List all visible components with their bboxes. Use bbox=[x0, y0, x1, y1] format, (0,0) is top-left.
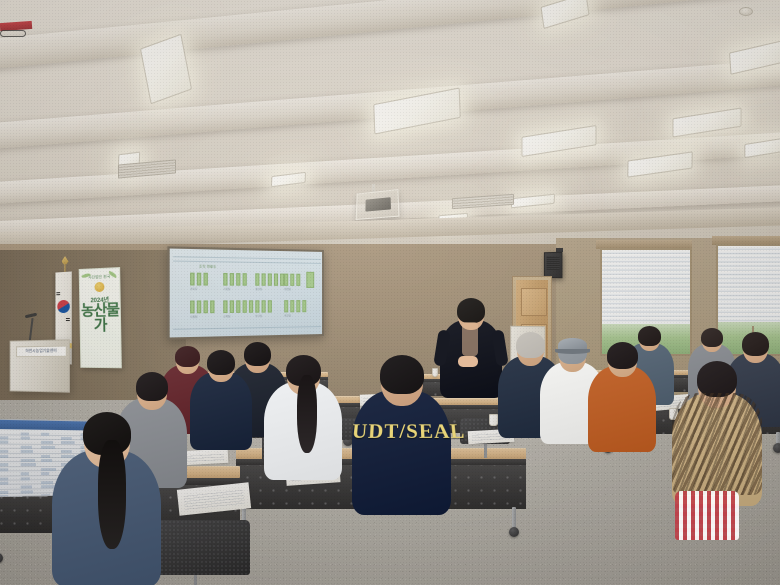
slide-box bbox=[243, 273, 247, 286]
slide-box bbox=[203, 273, 207, 286]
spreadsheet-cell bbox=[0, 450, 8, 453]
slide-box bbox=[290, 274, 294, 286]
slide-box bbox=[255, 300, 259, 312]
banner-top-text: 사단법인 한국 bbox=[80, 274, 120, 281]
slide-box bbox=[249, 300, 253, 313]
person-garment-pattern bbox=[672, 393, 762, 495]
presenter-inner-top bbox=[462, 322, 478, 356]
table-leg bbox=[512, 507, 516, 529]
person-hair bbox=[697, 361, 737, 397]
spreadsheet-cell bbox=[21, 477, 30, 480]
spreadsheet-cell bbox=[41, 454, 50, 457]
table-caster bbox=[773, 443, 780, 453]
slide-box bbox=[268, 300, 272, 312]
lectern-sign-text: 하천시농업기술센터 bbox=[25, 349, 56, 354]
paper-cup-mid bbox=[489, 414, 498, 426]
spreadsheet-cell bbox=[0, 468, 8, 471]
person-hair bbox=[742, 332, 769, 356]
slide-box bbox=[236, 300, 240, 313]
spreadsheet-cell bbox=[21, 486, 32, 489]
slide-box bbox=[197, 300, 201, 313]
person-ponytail bbox=[297, 375, 317, 453]
person-body bbox=[190, 372, 252, 450]
spreadsheet-cell bbox=[41, 432, 49, 435]
door-panel-upper bbox=[521, 288, 547, 316]
slide-group-label: 영업팀 bbox=[284, 287, 291, 291]
banner-main-text: 농산물가 bbox=[80, 302, 120, 333]
slide-box-group bbox=[284, 274, 300, 286]
smoke-detector-icon bbox=[739, 7, 753, 16]
speaker-grill bbox=[547, 256, 560, 270]
slide-group-label: 관리부 bbox=[190, 287, 197, 291]
person-body bbox=[588, 366, 656, 452]
spreadsheet-cell bbox=[21, 490, 33, 493]
person-ponytail bbox=[98, 440, 126, 549]
slide-box bbox=[223, 273, 227, 286]
person-hair bbox=[701, 328, 723, 347]
person-hair bbox=[607, 342, 638, 369]
spreadsheet-cell bbox=[0, 454, 8, 457]
spreadsheet-cell bbox=[0, 436, 8, 439]
person-hair bbox=[136, 372, 168, 401]
slide-box bbox=[230, 273, 234, 286]
window-blind-right[interactable] bbox=[718, 246, 780, 326]
slide-group-label: 교육팀 bbox=[223, 314, 230, 318]
slide-box-group bbox=[223, 300, 253, 313]
slide-box bbox=[274, 273, 278, 285]
projection-screen-surface: 조직 현황도 관리부기획팀생산팀영업팀지원팀교육팀연구팀총무팀 bbox=[170, 249, 322, 338]
ceiling-projector-icon bbox=[356, 189, 400, 220]
spreadsheet-cell bbox=[21, 436, 30, 439]
person-body bbox=[352, 390, 451, 515]
slide-box-group bbox=[190, 300, 214, 313]
slide-group-label: 생산팀 bbox=[255, 287, 262, 291]
spreadsheet-cell bbox=[21, 445, 32, 448]
slide-legend-box bbox=[306, 272, 314, 288]
spreadsheet-cell bbox=[0, 491, 8, 494]
spreadsheet-cell bbox=[0, 495, 8, 497]
chair-post bbox=[194, 575, 197, 585]
slide-group-label: 기획팀 bbox=[223, 287, 230, 291]
slide-box bbox=[197, 273, 201, 286]
person-attendee-orange-blouse bbox=[588, 340, 656, 459]
person-attendee-white-shirt bbox=[264, 352, 342, 488]
taeguk-symbol-icon bbox=[57, 300, 69, 313]
slide-title: 조직 현황도 bbox=[199, 264, 216, 268]
slide-box bbox=[243, 300, 247, 313]
slide-box bbox=[255, 273, 259, 285]
person-hair bbox=[380, 355, 424, 394]
paper-lines bbox=[183, 488, 245, 511]
projection-screen: 조직 현황도 관리부기획팀생산팀영업팀지원팀교육팀연구팀총무팀 bbox=[167, 246, 324, 339]
slide-box bbox=[190, 300, 194, 313]
slide-box-group bbox=[190, 273, 208, 286]
slide-box bbox=[302, 300, 306, 312]
slide-box bbox=[296, 274, 300, 286]
person-attendee-front-left-ponytail bbox=[52, 408, 161, 585]
wall-speaker-icon bbox=[544, 252, 563, 278]
chair-post bbox=[484, 444, 487, 458]
projector-body bbox=[365, 197, 391, 211]
person-cap-brim bbox=[555, 349, 590, 354]
slide-box bbox=[210, 300, 214, 313]
slide-box bbox=[223, 300, 227, 313]
spreadsheet-cell bbox=[21, 472, 29, 475]
person-hair bbox=[457, 298, 485, 323]
person-gingham-trousers bbox=[675, 491, 739, 540]
slide-box bbox=[268, 273, 272, 285]
slide-group-label: 총무팀 bbox=[284, 313, 291, 317]
banner-emblem-icon bbox=[94, 282, 104, 292]
slide-box bbox=[262, 300, 266, 312]
slide-chart-boxes: 관리부기획팀생산팀영업팀지원팀교육팀연구팀총무팀 bbox=[170, 249, 322, 252]
presenter-hands bbox=[458, 356, 478, 367]
spreadsheet-cell bbox=[21, 459, 35, 462]
lectern: 하천시농업기술센터 bbox=[10, 339, 70, 392]
slide-box bbox=[290, 300, 294, 312]
slide-box bbox=[190, 273, 194, 286]
person-attendee-udt-jacket: UDT/SEAL bbox=[352, 352, 451, 525]
standing-banner: 사단법인 한국 2024년 농산물가 bbox=[79, 267, 122, 368]
slide-box bbox=[203, 300, 207, 313]
person-hair bbox=[207, 350, 235, 375]
slide-group-label: 지원팀 bbox=[190, 314, 197, 318]
seminar-room-photo: 조직 현황도 관리부기획팀생산팀영업팀지원팀교육팀연구팀총무팀 사단법인 한국 … bbox=[0, 0, 780, 585]
slide-box-group bbox=[255, 300, 272, 313]
udt-seal-text: UDT/SEAL bbox=[351, 420, 453, 444]
slide-box-group bbox=[223, 273, 247, 286]
eyeglasses bbox=[0, 30, 26, 37]
spreadsheet-cell bbox=[21, 450, 33, 453]
spreadsheet-cell bbox=[0, 463, 8, 466]
slide-box-group bbox=[255, 273, 284, 286]
slide-box bbox=[236, 273, 240, 286]
lectern-sign: 하천시농업기술센터 bbox=[16, 346, 67, 358]
spreadsheet-cell bbox=[0, 441, 8, 444]
slide-group-label: 연구팀 bbox=[255, 314, 262, 318]
window-blind-left[interactable] bbox=[602, 250, 690, 328]
person-attendee-patterned-dress bbox=[672, 358, 762, 515]
spreadsheet-cell bbox=[41, 472, 49, 475]
table-caster bbox=[509, 527, 519, 537]
slide-box bbox=[262, 273, 266, 285]
slide-box-group bbox=[284, 300, 306, 312]
spreadsheet-cell bbox=[0, 477, 8, 480]
slide-box bbox=[230, 300, 234, 313]
spreadsheet-cell bbox=[21, 432, 29, 435]
slide-box bbox=[284, 300, 288, 312]
spreadsheet-cell bbox=[21, 463, 36, 466]
slide-box bbox=[296, 300, 300, 312]
spreadsheet-cell bbox=[0, 482, 8, 485]
slide-box bbox=[284, 274, 288, 286]
person-attendee-navy-left bbox=[190, 348, 252, 456]
spreadsheet-cell bbox=[41, 459, 52, 462]
